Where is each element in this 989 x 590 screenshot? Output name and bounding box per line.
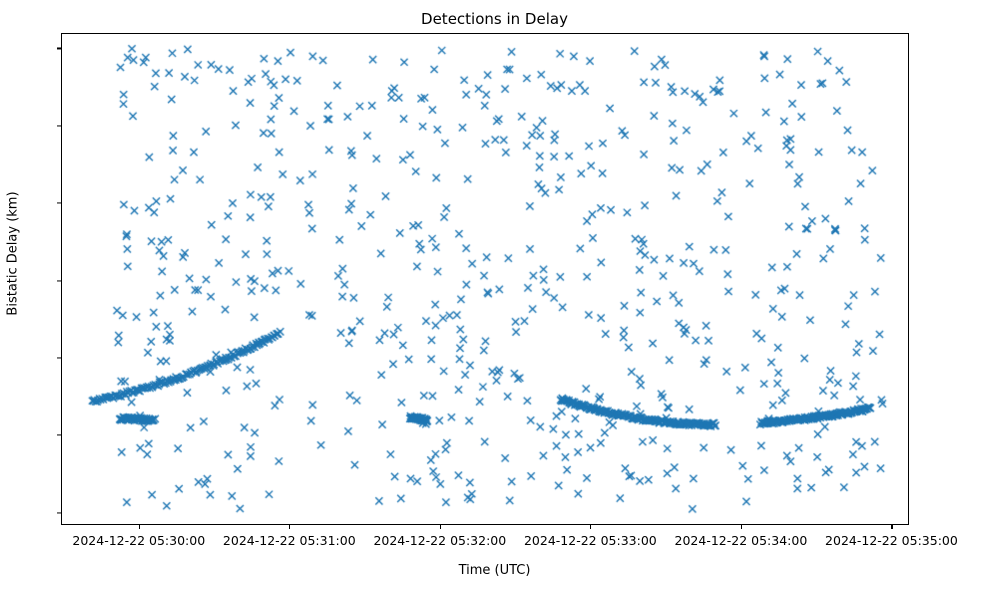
x-tick-mark xyxy=(891,525,892,529)
x-tick-mark xyxy=(440,525,441,529)
x-tick-label: 2024-12-22 05:35:00 xyxy=(825,533,958,548)
x-tick-label: 2024-12-22 05:34:00 xyxy=(675,533,808,548)
y-axis-label: Bistatic Delay (km) xyxy=(6,8,21,500)
x-tick-mark xyxy=(590,525,591,529)
figure-canvas: Detections in Delay 01020304050602024-12… xyxy=(0,0,989,590)
plot-area xyxy=(61,33,909,525)
x-tick-mark xyxy=(139,525,140,529)
x-tick-label: 2024-12-22 05:31:00 xyxy=(223,533,356,548)
scatter-plot-canvas xyxy=(62,34,908,524)
chart-title: Detections in Delay xyxy=(0,10,989,28)
x-tick-label: 2024-12-22 05:30:00 xyxy=(72,533,205,548)
x-axis-label: Time (UTC) xyxy=(0,563,989,578)
x-tick-mark xyxy=(289,525,290,529)
x-tick-label: 2024-12-22 05:32:00 xyxy=(373,533,506,548)
x-tick-label: 2024-12-22 05:33:00 xyxy=(524,533,657,548)
x-tick-mark xyxy=(741,525,742,529)
